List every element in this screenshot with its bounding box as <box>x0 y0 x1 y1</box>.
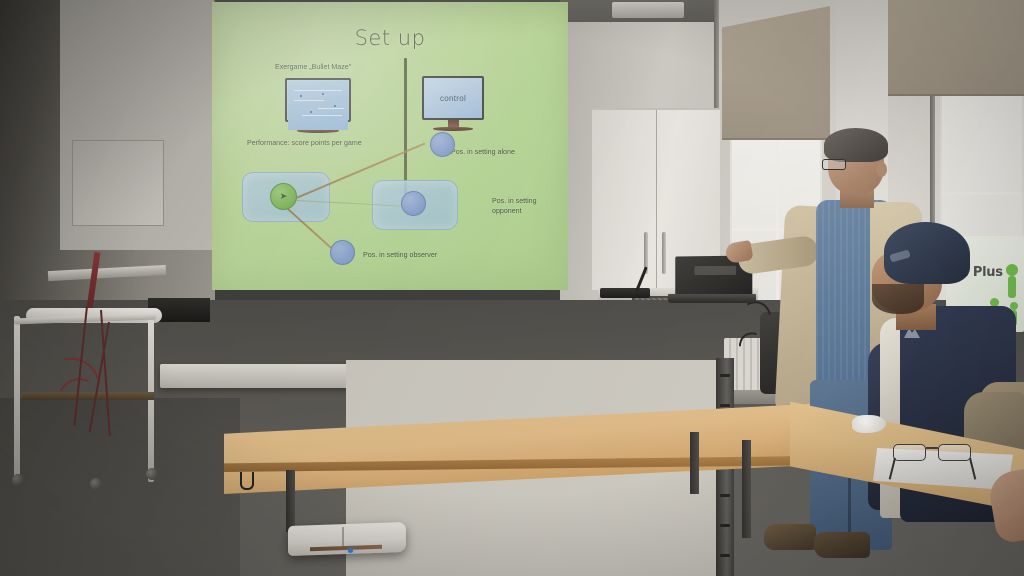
slide-position-observer-icon <box>330 240 355 265</box>
slide-position-opponent-icon <box>401 191 426 216</box>
presenter-ear <box>876 162 887 177</box>
slide-divider <box>404 58 407 194</box>
ceiling-light <box>612 2 684 18</box>
presenter-hair <box>824 128 888 162</box>
balance-board-strip <box>310 545 382 552</box>
laptop-keyboard[interactable] <box>668 294 756 303</box>
table-cable-hook <box>240 472 254 490</box>
eyeglasses-lens-left <box>893 444 926 461</box>
slide-control-monitor-icon: control <box>422 76 484 131</box>
slide-label-pos-observer: Pos. in setting observer <box>363 251 437 261</box>
slide-label-pos-opponent: Pos. in setting opponent <box>492 197 554 216</box>
slide-game-monitor-icon <box>285 78 351 133</box>
room-photo-scene: fit Plus <box>0 0 1024 576</box>
left-wall-box <box>72 140 164 226</box>
presenter-shoe <box>814 532 870 558</box>
attendee-beanie <box>884 222 970 284</box>
slide-control-screen-text: control <box>440 94 466 103</box>
presenter-glasses-icon <box>822 159 846 170</box>
table-leg <box>690 432 699 494</box>
wireless-router <box>600 288 650 298</box>
window-blind-right[interactable] <box>888 0 1024 96</box>
cabinet-handle-right[interactable] <box>662 232 666 274</box>
table-leg <box>742 440 751 538</box>
maze-game-preview <box>288 81 348 130</box>
slide-label-exergame: Exergame „Bullet Maze" <box>275 63 351 73</box>
eyeglasses-lens-right <box>938 444 971 461</box>
eyeglasses <box>893 444 971 468</box>
projection-screen-housing[interactable] <box>160 364 578 388</box>
presenter-shoe <box>764 524 816 550</box>
slide-position-player-icon: ➤ <box>270 183 297 210</box>
slide-position-alone-icon <box>430 132 455 157</box>
attendee-beard <box>872 284 924 314</box>
slide-label-performance: Performance: score points per game <box>247 139 362 149</box>
lab-cart <box>8 286 160 486</box>
eyeglasses-bridge <box>926 447 938 449</box>
slide-label-pos-alone: Pos. in setting alone <box>451 148 515 158</box>
window-blind-left[interactable] <box>722 6 830 140</box>
projected-slide: Set up Exergame „Bullet Maze" Performanc… <box>212 2 568 290</box>
balance-board[interactable] <box>288 522 406 556</box>
table-leg <box>286 470 295 532</box>
screen-rail-notches <box>720 374 730 576</box>
balance-board-led-icon <box>348 549 353 553</box>
slide-title: Set up <box>212 26 568 50</box>
